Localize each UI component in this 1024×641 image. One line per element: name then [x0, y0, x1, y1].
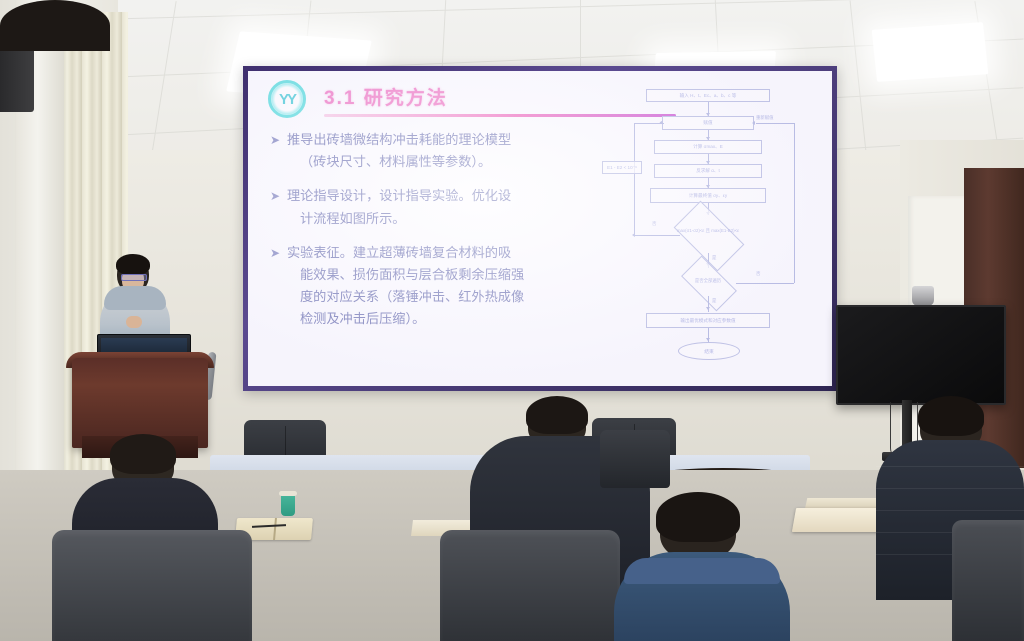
bullet-line: 检测及冲击后压缩）。: [287, 308, 610, 330]
attendee-1-hair: [110, 434, 176, 474]
flow-node-decision1: [674, 201, 745, 272]
presenter-hair: [116, 254, 150, 275]
bullet-line: 计流程如图所示。: [287, 208, 610, 230]
flow-label-yes1: 是: [712, 255, 716, 261]
projection-screen[interactable]: ΥΥ 3.1 研究方法 ➤ 推导出砖墙微结构冲击耗能的理论模型 （砖块尺寸、材料…: [243, 66, 837, 391]
presenter-hands: [126, 316, 142, 328]
flow-node-calc2: 反求解 α、t: [654, 164, 762, 178]
slide-title: 3.1 研究方法: [324, 83, 448, 110]
chair-front-right[interactable]: [952, 520, 1024, 641]
bullet-item: ➤ 理论指导设计，设计指导实验。优化设 计流程如图所示。: [270, 185, 610, 229]
chair-behind-attendee-2[interactable]: [600, 430, 670, 488]
flow-label-reassign: 重新赋值: [756, 115, 774, 121]
ceiling-light-3: [872, 22, 989, 82]
flow-node-assign: 赋值: [662, 116, 754, 130]
attendee-4-hood: [624, 558, 780, 584]
attendee-5-head: [0, 0, 110, 51]
chair-front-left[interactable]: [52, 530, 252, 641]
presenter-glasses: [121, 274, 147, 281]
bullet-arrow-icon: ➤: [270, 243, 280, 263]
flow-node-decision2: [681, 256, 737, 312]
flow-node-output: 输出最优模式和对应参数值: [646, 313, 770, 328]
bullet-line: 实验表征。建立超薄砖墙复合材料的吸: [287, 242, 610, 264]
flow-label-no2: 否: [756, 271, 760, 277]
wall-tv-display[interactable]: [836, 305, 1006, 405]
flow-label-no1: 否: [652, 221, 656, 227]
flow-label-yes2: 是: [712, 298, 716, 304]
conference-room-photo: ΥΥ 3.1 研究方法 ➤ 推导出砖墙微结构冲击耗能的理论模型 （砖块尺寸、材料…: [0, 0, 1024, 641]
bullet-line: 能效果、损伤面积与层合板剩余压缩强: [287, 264, 610, 286]
document-stack-right[interactable]: [792, 508, 888, 532]
bullet-item: ➤ 推导出砖墙微结构冲击耗能的理论模型 （砖块尺寸、材料属性等参数）。: [270, 129, 610, 173]
flowchart-diagram: 输入 H、t、Ec、a、b、c 等 赋值 计算 σmax、E 反求解 α、t 计…: [606, 89, 822, 371]
chair-front-center[interactable]: [440, 530, 620, 641]
flow-side-note: E1 - E2 < 10⁻⁶: [602, 161, 642, 174]
bullet-item: ➤ 实验表征。建立超薄砖墙复合材料的吸 能效果、损伤面积与层合板剩余压缩强 度的…: [270, 242, 610, 331]
bullet-line: （砖块尺寸、材料属性等参数）。: [287, 151, 610, 173]
paper-cup[interactable]: [281, 494, 295, 516]
flow-node-calc1: 计算 σmax、E: [654, 140, 762, 154]
flow-decision1-label: max(σ1-σ2)<ε 且 max(E1-E2)<ε: [672, 228, 744, 233]
attendee-5: [0, 0, 110, 51]
cup-lid: [279, 491, 297, 496]
flow-decision2-label: 是否全部遍历: [680, 278, 736, 283]
presenter-hood: [104, 286, 166, 310]
bullet-arrow-icon: ➤: [270, 130, 280, 150]
attendee-3-hair: [918, 396, 984, 436]
presentation-slide: ΥΥ 3.1 研究方法 ➤ 推导出砖墙微结构冲击耗能的理论模型 （砖块尺寸、材料…: [248, 71, 832, 386]
attendee-2-hair: [526, 396, 588, 434]
bullet-line: 推导出砖墙微结构冲击耗能的理论模型: [287, 129, 610, 151]
emblem-glyph: ΥΥ: [279, 92, 295, 107]
flow-node-end: 结束: [678, 342, 740, 360]
bullet-line: 度的对应关系（落锤冲击、红外热成像: [287, 286, 610, 308]
flow-node-calc3: 计算最终值 σy、εy: [650, 188, 766, 203]
bullet-line: 理论指导设计，设计指导实验。优化设: [287, 185, 610, 207]
bullet-arrow-icon: ➤: [270, 186, 280, 206]
flow-node-input: 输入 H、t、Ec、a、b、c 等: [646, 89, 770, 102]
attendee-4-hair: [656, 492, 740, 542]
university-emblem-icon: ΥΥ: [268, 80, 306, 118]
ptz-conference-camera: [912, 286, 934, 306]
slide-bullet-list: ➤ 推导出砖墙微结构冲击耗能的理论模型 （砖块尺寸、材料属性等参数）。 ➤ 理论…: [270, 129, 610, 342]
